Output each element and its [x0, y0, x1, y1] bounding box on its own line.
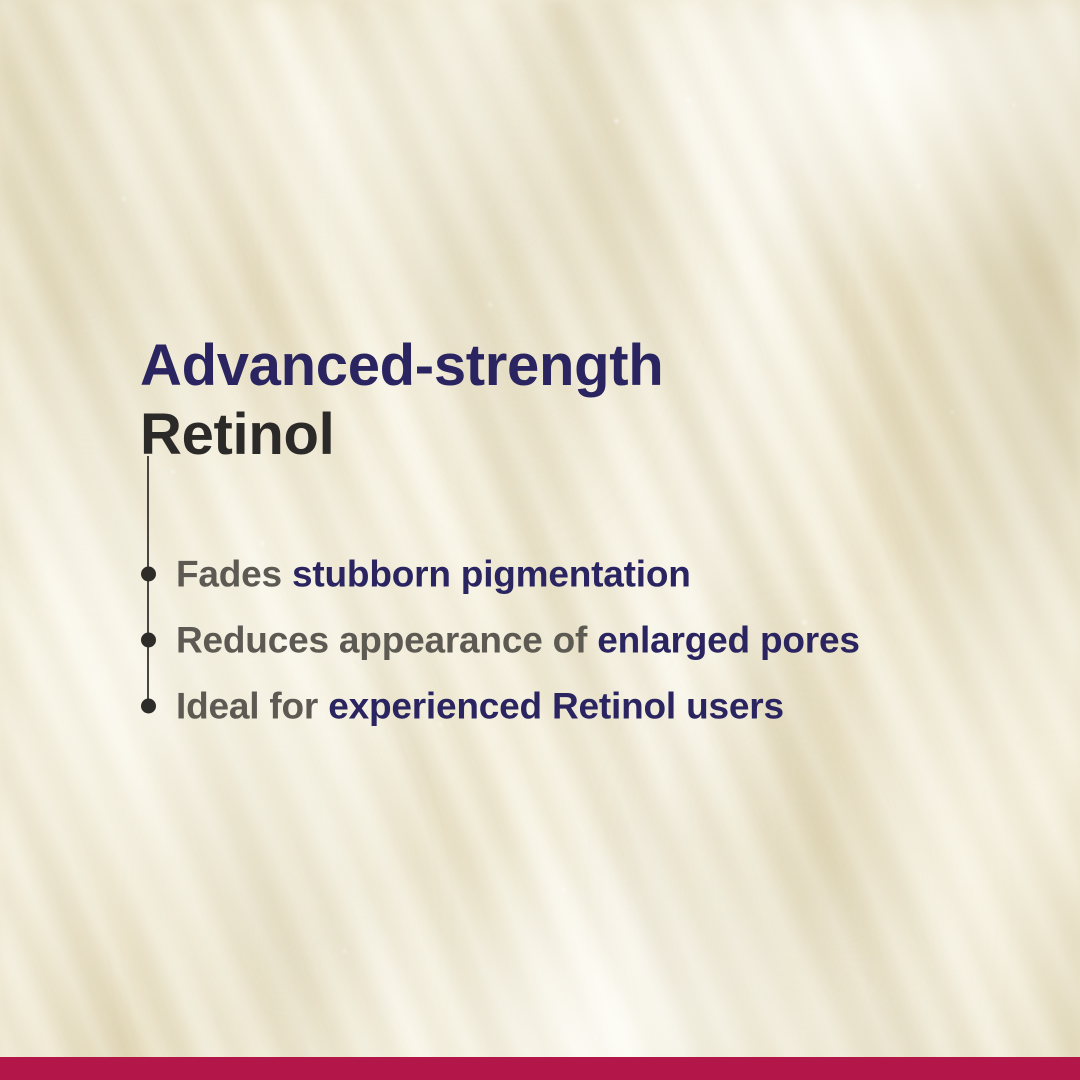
- list-item-lead: Fades: [176, 554, 292, 595]
- bullet-dot-icon: [141, 699, 156, 714]
- content-area: Advanced-strength Retinol Fades stubborn…: [0, 0, 1080, 1080]
- list-item-text: Fades stubborn pigmentation: [176, 556, 691, 593]
- list-item-text: Ideal for experienced Retinol users: [176, 688, 784, 725]
- bullet-dot-icon: [141, 633, 156, 648]
- promo-card: Advanced-strength Retinol Fades stubborn…: [0, 0, 1080, 1080]
- list-item-accent: enlarged pores: [597, 620, 859, 661]
- list-item-accent: stubborn pigmentation: [292, 554, 691, 595]
- list-item-lead: Ideal for: [176, 686, 328, 727]
- page-title: Advanced-strength Retinol: [140, 337, 940, 464]
- brand-accent-band: [0, 1057, 1080, 1080]
- list-item-lead: Reduces appearance of: [176, 620, 597, 661]
- page-title-line-2: Retinol: [140, 406, 940, 464]
- page-title-line-1: Advanced-strength: [140, 337, 940, 395]
- list-item-accent: experienced Retinol users: [328, 686, 784, 727]
- bullet-dot-icon: [141, 567, 156, 582]
- list-item-text: Reduces appearance of enlarged pores: [176, 622, 860, 659]
